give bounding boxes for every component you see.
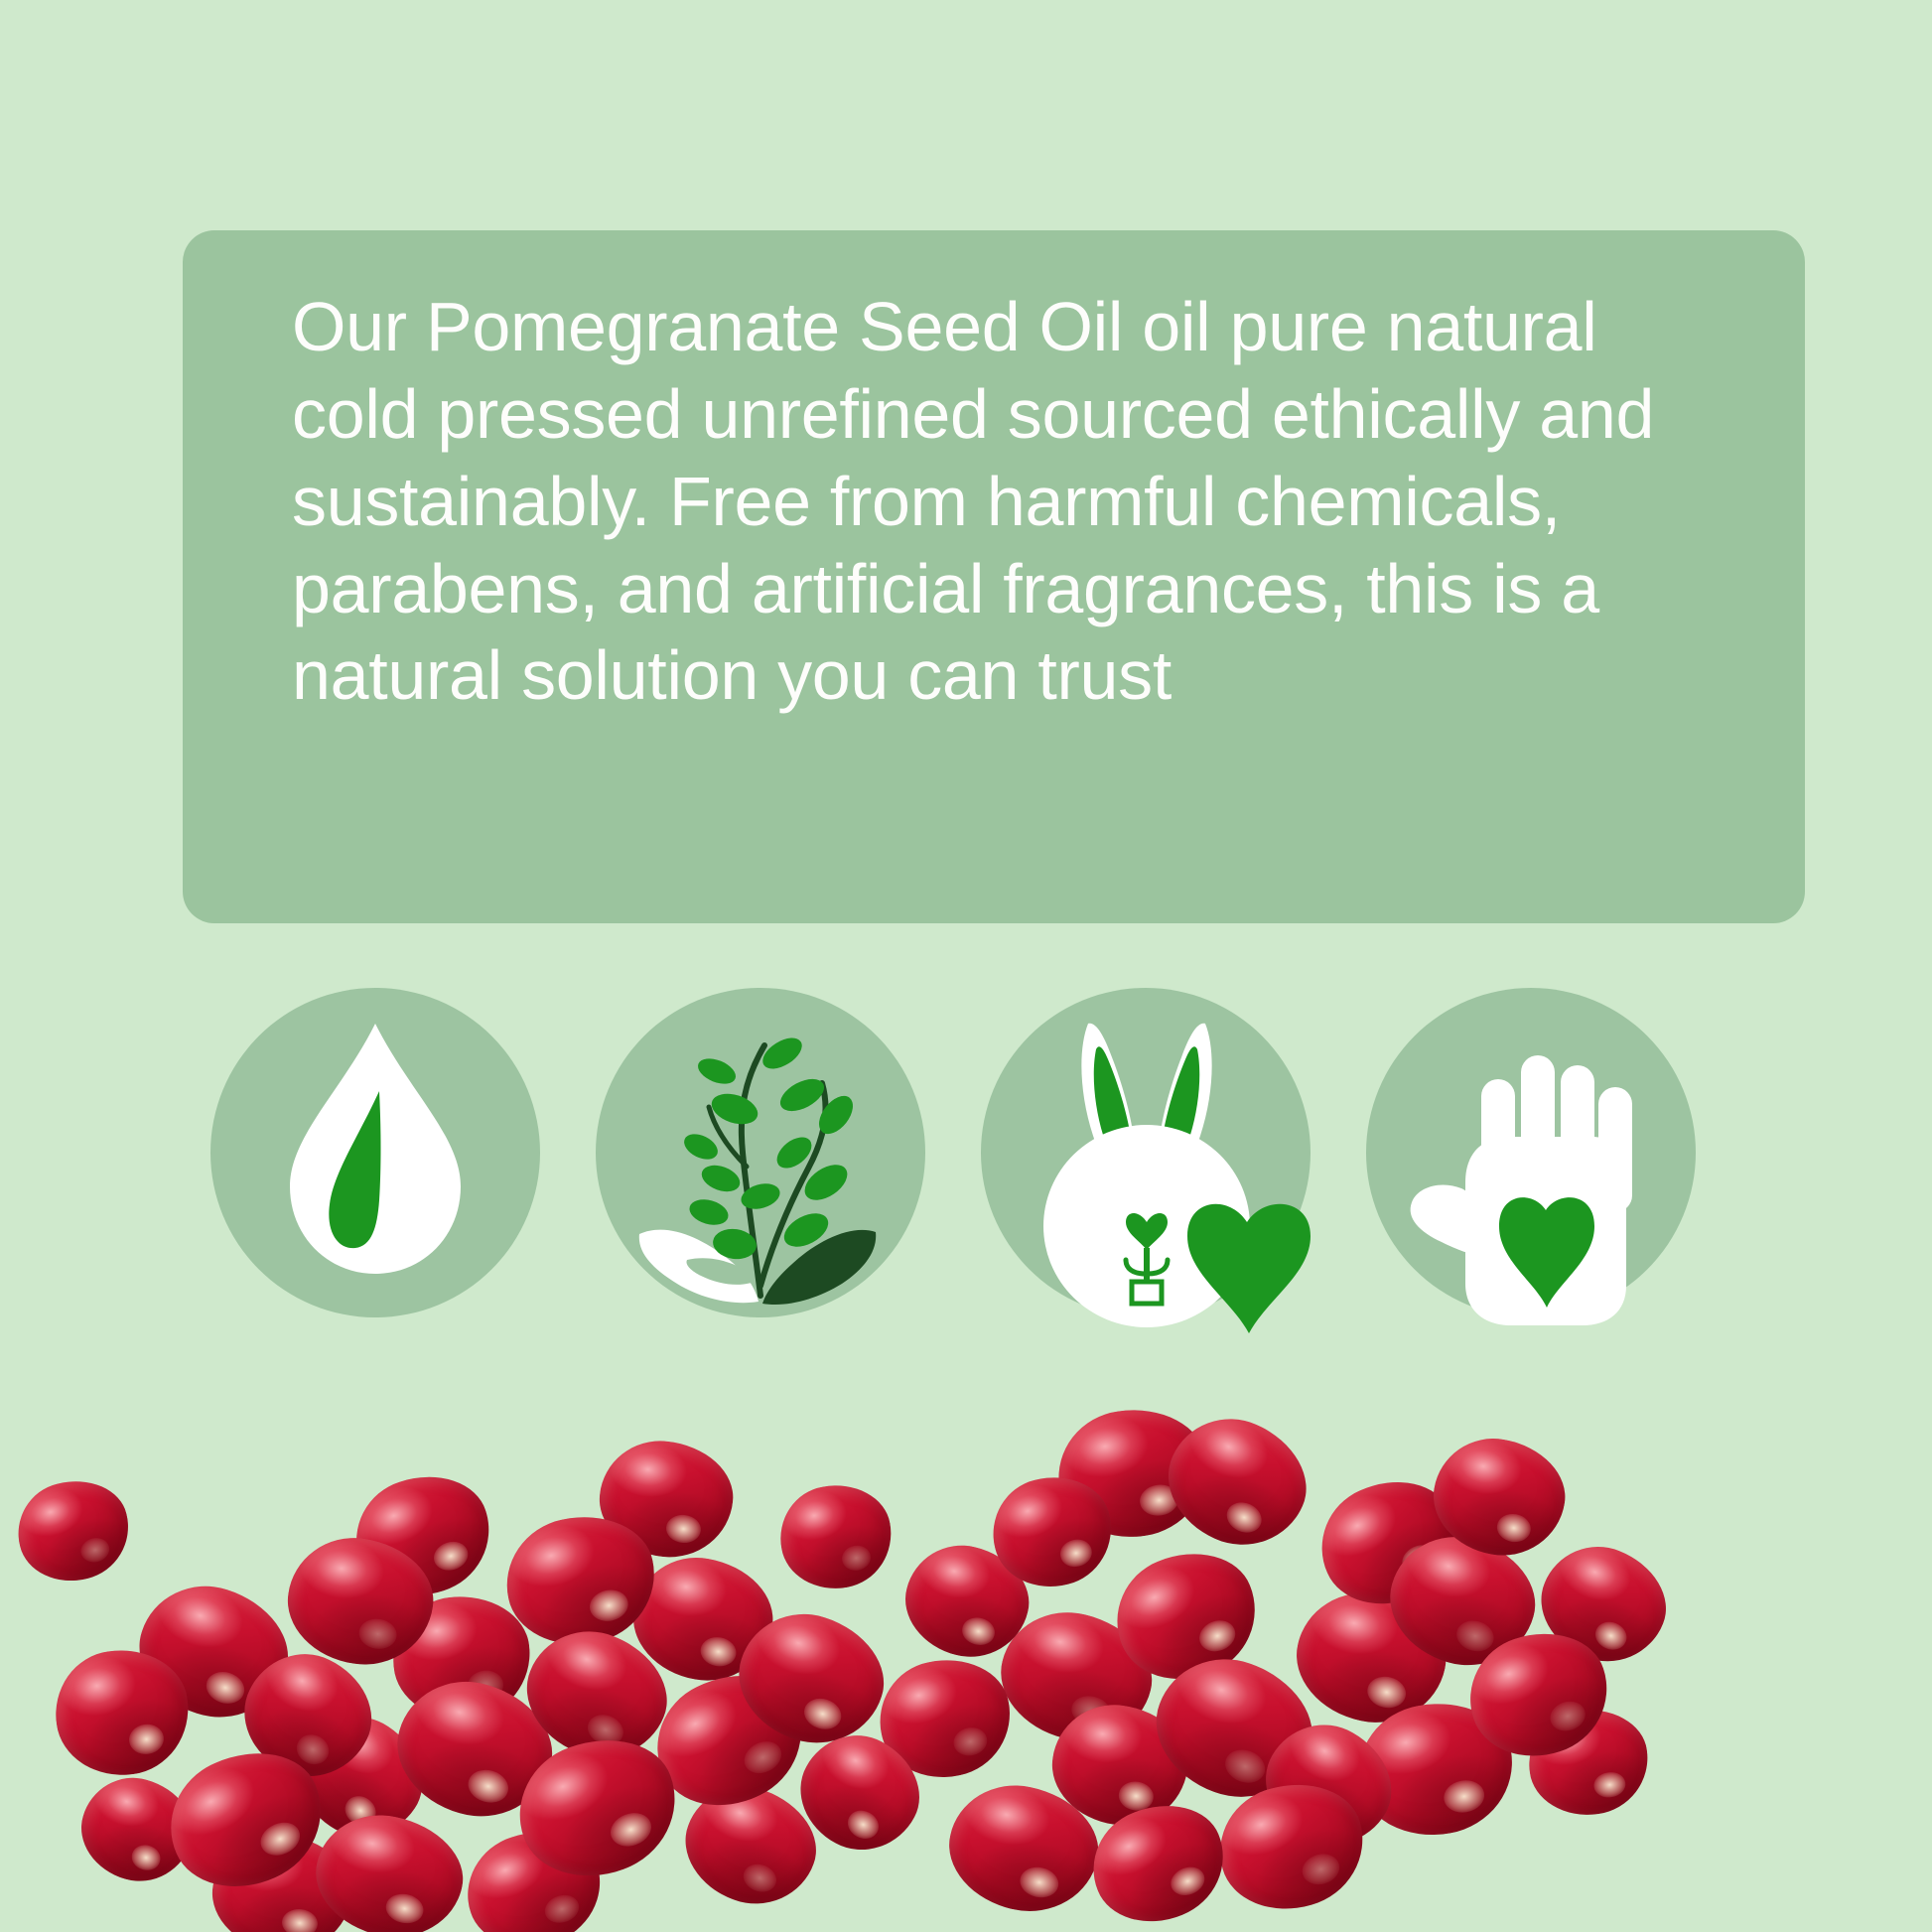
cruelty-free-rabbit-icon <box>981 988 1311 1317</box>
plant-in-hands-icon <box>596 988 925 1317</box>
badge-hand-with-heart <box>1338 988 1724 1373</box>
hand-with-heart-icon <box>1366 988 1696 1317</box>
pomegranate-seeds <box>0 1390 1932 1932</box>
pomegranate-seed-oil-poster: Our Pomegranate Seed Oil oil pure natura… <box>0 0 1932 1932</box>
description-card: Our Pomegranate Seed Oil oil pure natura… <box>183 230 1805 923</box>
description-text: Our Pomegranate Seed Oil oil pure natura… <box>292 284 1735 720</box>
badge-plant-in-hands <box>568 988 953 1373</box>
pomegranate-seed <box>8 1469 140 1592</box>
pomegranate-seed <box>772 1476 899 1597</box>
badge-oil-droplet <box>183 988 568 1373</box>
oil-droplet-icon <box>210 988 540 1317</box>
badge-cruelty-free-rabbit <box>953 988 1338 1373</box>
benefit-badge-row <box>183 988 1805 1385</box>
